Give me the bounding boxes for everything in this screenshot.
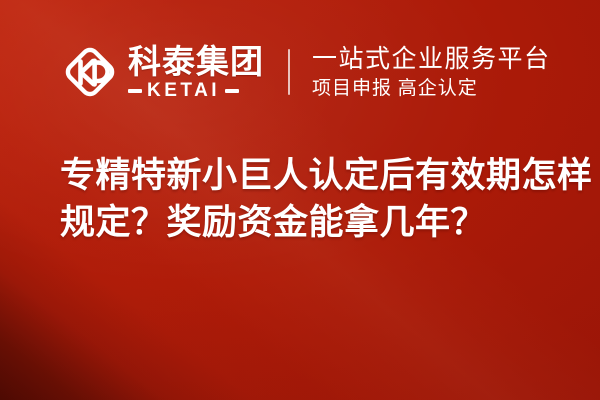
headline-line-2: 规定？奖励资金能拿几年？ [60,199,560,246]
brand-wordmark: 科泰集团 KETAI [128,44,264,101]
promo-banner: 科泰集团 KETAI 一站式企业服务平台 项目申报 高企认定 专精特新小巨人认定… [0,0,600,400]
ketai-diamond-monogram-icon [60,42,120,102]
brand-name-en-row: KETAI [128,81,264,101]
headline-line-1: 专精特新小巨人认定后有效期怎样 [60,152,560,199]
tagline-block: 一站式企业服务平台 项目申报 高企认定 [312,44,551,101]
tagline-main: 一站式企业服务平台 [312,44,551,74]
dash-left-icon [128,89,142,93]
brand-logo[interactable]: 科泰集团 KETAI [60,42,264,102]
vertical-divider [288,49,290,95]
tagline-sub: 项目申报 高企认定 [312,77,551,101]
brand-name-en: KETAI [147,81,220,101]
dash-right-icon [225,89,239,93]
headline: 专精特新小巨人认定后有效期怎样 规定？奖励资金能拿几年？ [60,152,560,246]
banner-header: 科泰集团 KETAI 一站式企业服务平台 项目申报 高企认定 [0,34,600,110]
brand-name-cn: 科泰集团 [128,44,264,80]
